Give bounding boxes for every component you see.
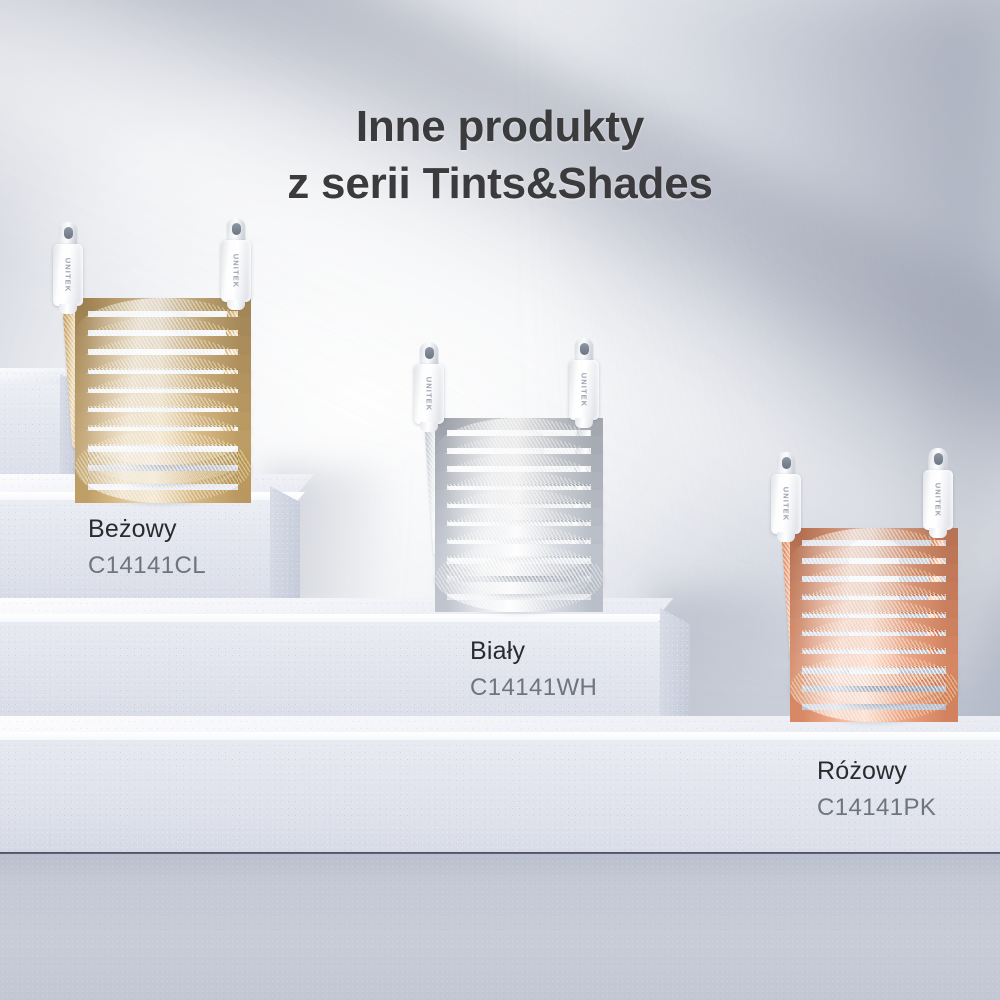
connector-strain-relief <box>929 528 947 538</box>
connector-strain-relief <box>777 532 795 542</box>
product-showcase-scene: Inne produkty z serii Tints&Shades Beżow… <box>0 0 1000 1000</box>
cable-coil-turn <box>790 654 958 722</box>
usb-c-connector-pink-2: UNITEK <box>921 448 955 534</box>
connector-housing: UNITEK <box>923 470 953 530</box>
usb-c-connector-pink-1: UNITEK <box>769 452 803 538</box>
cable-coil-pink <box>0 0 1000 1000</box>
connector-housing: UNITEK <box>771 474 801 534</box>
connector-brand-text: UNITEK <box>934 483 943 518</box>
cable-assembly-pink: UNITEKUNITEK <box>0 0 1000 1000</box>
connector-brand-text: UNITEK <box>782 487 791 522</box>
